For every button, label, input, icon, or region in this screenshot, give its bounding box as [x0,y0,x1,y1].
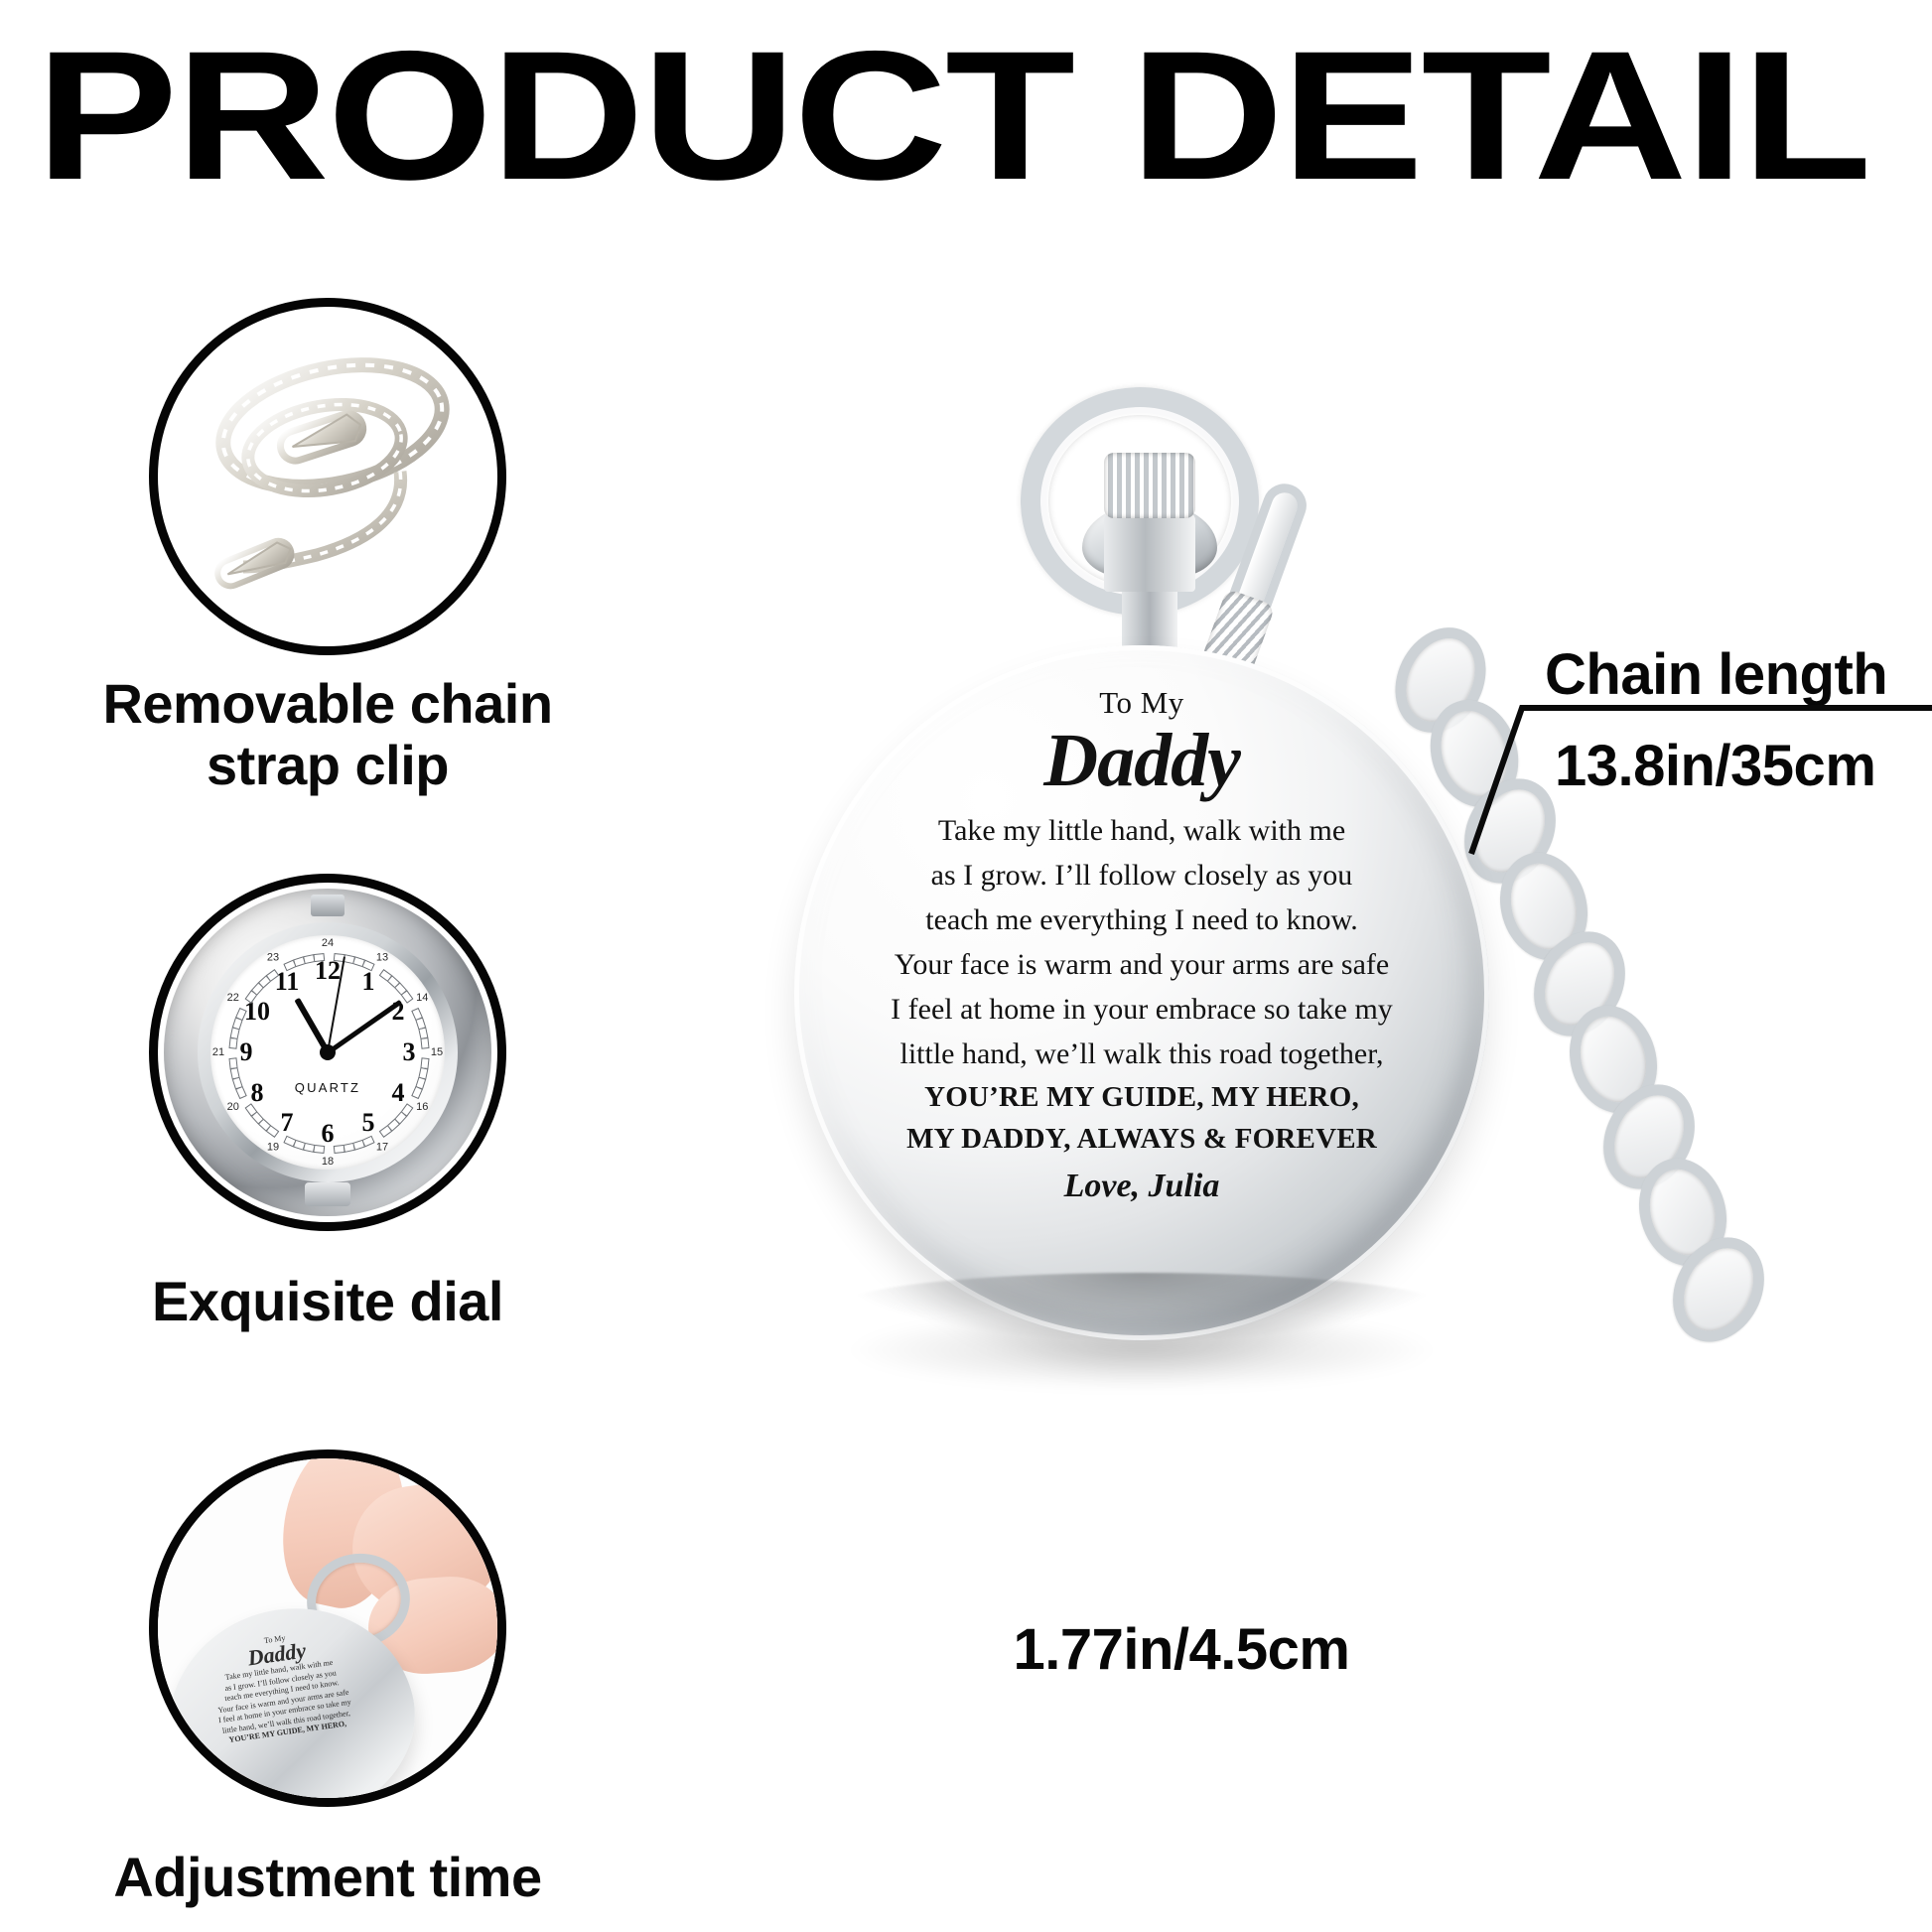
case-size-label: 1.77in/4.5cm [854,1618,1509,1682]
engrave-body-line-1: as I grow. I’ll follow closely as you [844,853,1440,897]
dial-hour-numeral: 3 [394,1039,424,1065]
feature-label-dial: Exquisite dial [10,1271,645,1332]
dial-outer-numeral: 24 [317,938,339,949]
feature-dial: 123456789101112131415161718192021222324 … [10,874,645,1311]
feature-label-line2: strap clip [207,734,449,796]
dial-face: 123456789101112131415161718192021222324 … [210,935,445,1170]
dial-crown [311,895,345,916]
dial-brand-text: QUARTZ [295,1080,360,1095]
dial-hour-numeral: 10 [242,999,272,1025]
dial-outer-numeral: 14 [411,993,433,1004]
dial-outer-numeral: 22 [222,993,244,1004]
dial-hour-numeral: 6 [313,1121,343,1147]
dial-minute-tick [420,1037,429,1049]
dial-outer-numeral: 21 [207,1047,229,1058]
engrave-body-line-2: teach me everything I need to know. [844,897,1440,942]
dial-outer-numeral: 23 [262,953,284,964]
dial-outer-numeral: 15 [426,1047,448,1058]
chain-length-leader-line [1410,655,1932,894]
dial-hinge [305,1182,350,1206]
engrave-body-line-4: I feel at home in your embrace so take m… [844,987,1440,1032]
engrave-body: Take my little hand, walk with me as I g… [844,808,1440,1076]
dial-center-pin [320,1044,336,1060]
feature-adjustment-time: To My Daddy Take my little hand, walk wi… [10,1449,645,1886]
chain-coil-illustration [158,307,497,646]
engrave-body-line-3: Your face is warm and your arms are safe [844,942,1440,987]
engrave-salutation: To My [844,685,1440,721]
hand-holding-illustration: To My Daddy Take my little hand, walk wi… [158,1458,497,1798]
product-detail-page: PRODUCT DETAIL [0,0,1932,1932]
watch-dial-photo: 123456789101112131415161718192021222324 … [149,874,506,1231]
dial-outer-numeral: 18 [317,1157,339,1168]
engrave-body-line-5: little hand, we’ll walk this road togeth… [844,1032,1440,1076]
dial-hour-numeral: 1 [353,969,383,995]
main-product-image: To My Daddy Take my little hand, walk wi… [755,417,1847,1569]
small-engraving: To My Daddy Take my little hand, walk wi… [166,1619,396,1752]
feature-chain-clip: Removable chain strap clip [10,298,645,735]
page-title: PRODUCT DETAIL [36,22,1932,210]
dial-case: 123456789101112131415161718192021222324 … [164,889,491,1216]
dial-outer-numeral: 17 [371,1142,393,1153]
watch-case-bottom-edge [836,1273,1448,1342]
dial-outer-numeral: 19 [262,1142,284,1153]
dial-outer-numeral: 13 [371,953,393,964]
watch-crown [1104,453,1195,518]
engrave-caps-1: MY DADDY, ALWAYS & FOREVER [844,1118,1440,1160]
dial-minute-tick [313,953,325,962]
dial-outer-numeral: 20 [222,1102,244,1113]
chain-coil-svg [158,307,497,646]
hand-holding-watch-photo: To My Daddy Take my little hand, walk wi… [149,1449,506,1807]
dial-hour-numeral: 8 [242,1080,272,1106]
feature-label-chain-clip: Removable chain strap clip [10,673,645,796]
dial-minute-tick [334,1145,345,1154]
dial-outer-numeral: 16 [411,1102,433,1113]
dial-hour-numeral: 12 [313,958,343,984]
chain-coil-photo [149,298,506,655]
engraving-text: To My Daddy Take my little hand, walk wi… [844,685,1440,1209]
engrave-signature: Love, Julia [844,1164,1440,1209]
feature-label-adjustment-time: Adjustment time [10,1847,645,1908]
watch-stem [1104,512,1195,592]
dial-minute-tick [228,1057,237,1069]
feature-label-line1: Removable chain [102,672,552,735]
dial-bezel: 123456789101112131415161718192021222324 … [198,922,458,1182]
engrave-body-line-0: Take my little hand, walk with me [844,808,1440,853]
dial-hour-numeral: 4 [383,1080,413,1106]
engrave-caps-0: YOU’RE MY GUIDE, MY HERO, [844,1076,1440,1118]
engrave-recipient: Daddy [844,719,1440,802]
